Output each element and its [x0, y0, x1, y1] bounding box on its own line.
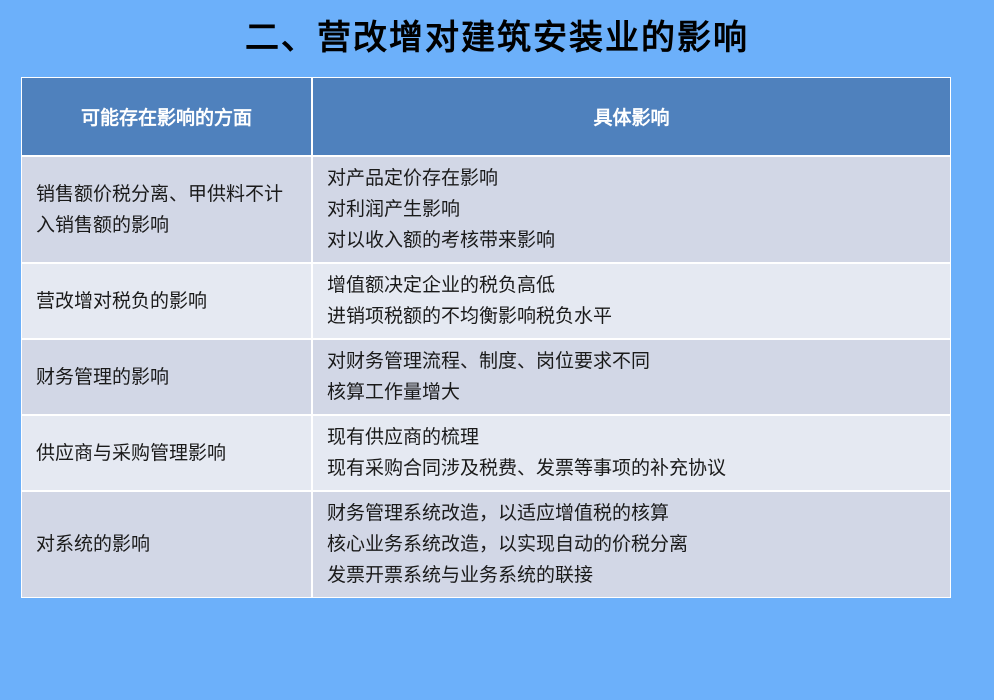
page-title: 二、营改增对建筑安装业的影响	[0, 16, 994, 60]
table-row: 销售额价税分离、甲供料不计入销售额的影响 对产品定价存在影响 对利润产生影响 对…	[22, 156, 950, 263]
table-row: 财务管理的影响 对财务管理流程、制度、岗位要求不同 核算工作量增大	[22, 339, 950, 415]
cell-detail: 增值额决定企业的税负高低 进销项税额的不均衡影响税负水平	[312, 263, 950, 339]
cell-aspect: 营改增对税负的影响	[22, 263, 312, 339]
detail-line: 核算工作量增大	[327, 377, 940, 408]
detail-line: 财务管理系统改造，以适应增值税的核算	[327, 498, 940, 529]
column-header-aspect: 可能存在影响的方面	[22, 78, 312, 156]
cell-aspect: 财务管理的影响	[22, 339, 312, 415]
cell-detail: 现有供应商的梳理 现有采购合同涉及税费、发票等事项的补充协议	[312, 415, 950, 491]
impact-table: 可能存在影响的方面 具体影响 销售额价税分离、甲供料不计入销售额的影响 对产品定…	[22, 78, 950, 597]
table-row: 供应商与采购管理影响 现有供应商的梳理 现有采购合同涉及税费、发票等事项的补充协…	[22, 415, 950, 491]
table-row: 营改增对税负的影响 增值额决定企业的税负高低 进销项税额的不均衡影响税负水平	[22, 263, 950, 339]
detail-line: 进销项税额的不均衡影响税负水平	[327, 301, 940, 332]
detail-line: 增值额决定企业的税负高低	[327, 270, 940, 301]
table-body: 销售额价税分离、甲供料不计入销售额的影响 对产品定价存在影响 对利润产生影响 对…	[22, 156, 950, 597]
slide-canvas: 二、营改增对建筑安装业的影响 可能存在影响的方面 具体影响 销售额价税分离、甲供…	[0, 0, 994, 700]
cell-aspect: 供应商与采购管理影响	[22, 415, 312, 491]
cell-detail: 对产品定价存在影响 对利润产生影响 对以收入额的考核带来影响	[312, 156, 950, 263]
detail-line: 现有供应商的梳理	[327, 422, 940, 453]
cell-detail: 财务管理系统改造，以适应增值税的核算 核心业务系统改造，以实现自动的价税分离 发…	[312, 491, 950, 597]
table-header-row: 可能存在影响的方面 具体影响	[22, 78, 950, 156]
cell-aspect: 销售额价税分离、甲供料不计入销售额的影响	[22, 156, 312, 263]
detail-line: 对财务管理流程、制度、岗位要求不同	[327, 346, 940, 377]
detail-line: 对以收入额的考核带来影响	[327, 225, 940, 256]
cell-aspect: 对系统的影响	[22, 491, 312, 597]
cell-detail: 对财务管理流程、制度、岗位要求不同 核算工作量增大	[312, 339, 950, 415]
table-row: 对系统的影响 财务管理系统改造，以适应增值税的核算 核心业务系统改造，以实现自动…	[22, 491, 950, 597]
table-header: 可能存在影响的方面 具体影响	[22, 78, 950, 156]
detail-line: 发票开票系统与业务系统的联接	[327, 560, 940, 591]
detail-line: 核心业务系统改造，以实现自动的价税分离	[327, 529, 940, 560]
detail-line: 对利润产生影响	[327, 194, 940, 225]
column-header-detail: 具体影响	[312, 78, 950, 156]
detail-line: 现有采购合同涉及税费、发票等事项的补充协议	[327, 453, 940, 484]
detail-line: 对产品定价存在影响	[327, 163, 940, 194]
